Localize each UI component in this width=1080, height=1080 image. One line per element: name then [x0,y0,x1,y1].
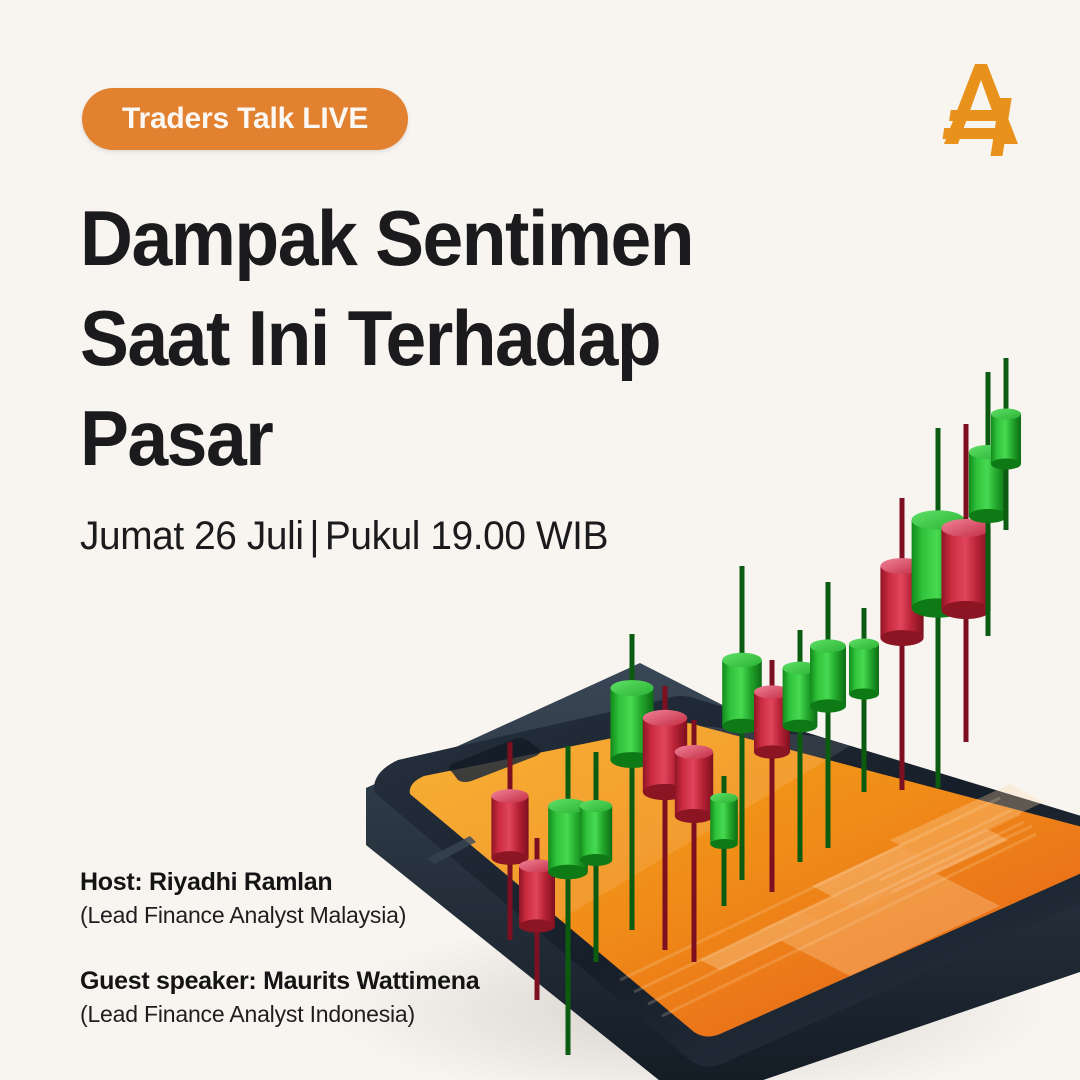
host-name: Host: Riyadhi Ramlan [80,866,479,899]
schedule-time: Pukul 19.00 WIB [325,514,608,558]
credits-block: Host: Riyadhi Ramlan (Lead Finance Analy… [80,866,479,1030]
guest-name: Guest speaker: Maurits Wattimena [80,965,479,998]
guest-role: (Lead Finance Analyst Indonesia) [80,998,479,1030]
schedule-line: Jumat 26 Juli|Pukul 19.00 WIB [80,514,608,559]
live-badge: Traders Talk LIVE [82,88,408,150]
page-title: Dampak Sentimen Saat Ini Terhadap Pasar [80,188,794,488]
headline-line-2: Saat Ini Terhadap [80,288,794,388]
headline-line-3: Pasar [80,388,794,488]
schedule-separator: | [304,514,325,558]
host-role: (Lead Finance Analyst Malaysia) [80,899,479,931]
abs-monogram-a-icon [930,58,1030,158]
schedule-date: Jumat 26 Juli [80,514,304,558]
headline-line-1: Dampak Sentimen [80,188,794,288]
promo-poster: Traders Talk LIVE Dampak Sentimen Saat I… [0,0,1080,1080]
